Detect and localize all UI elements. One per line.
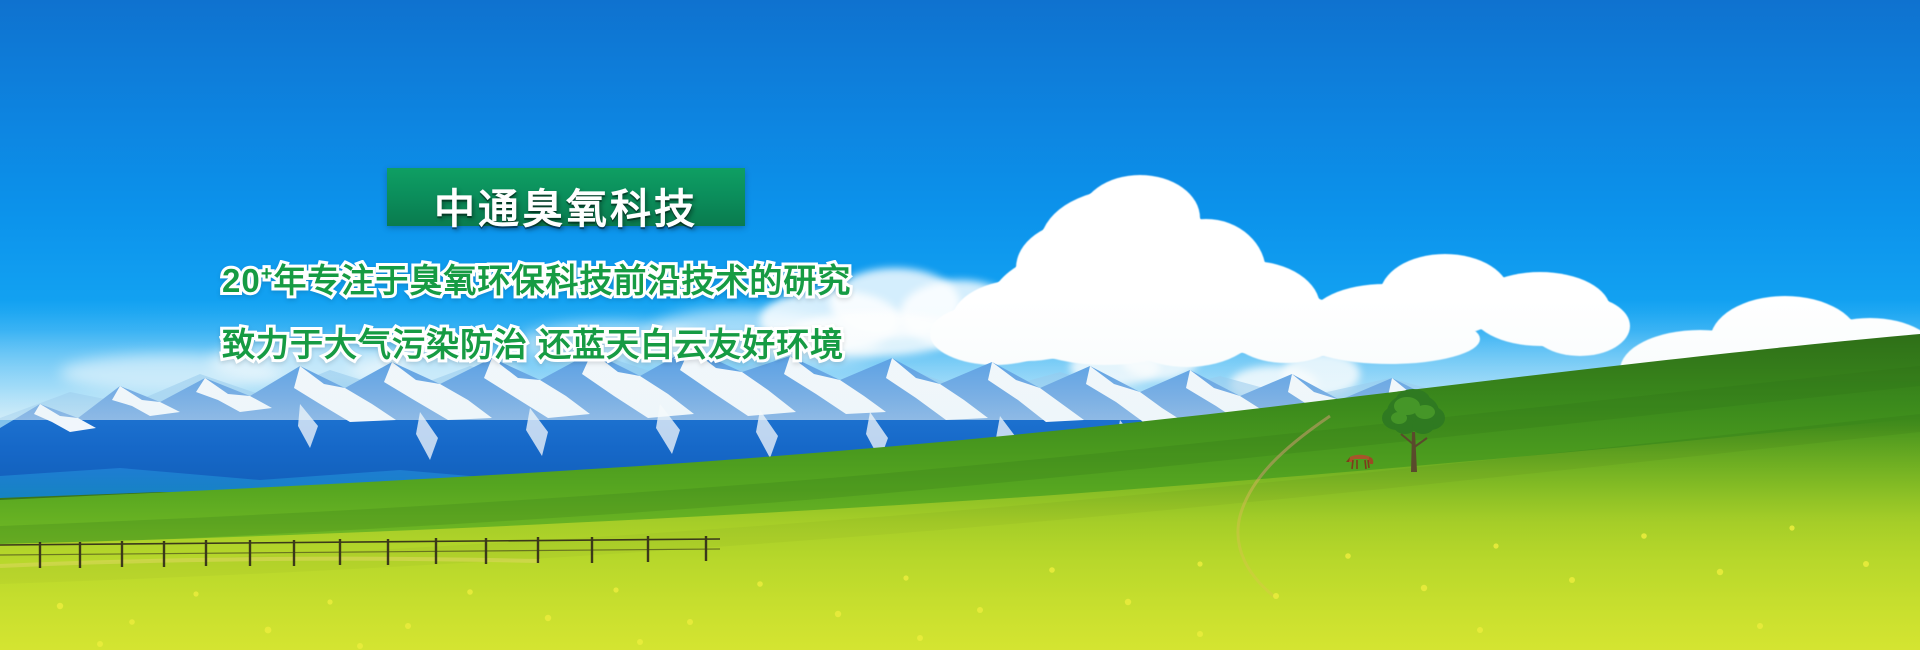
hero-banner: 中通臭氧科技 20+年专注于臭氧环保科技前沿技术的研究 致力于大气污染防治 还蓝…: [0, 0, 1920, 650]
tagline-line-1: 20+年专注于臭氧环保科技前沿技术的研究: [222, 264, 851, 297]
tagline-years-number: 20: [222, 262, 261, 299]
tagline-line-1-rest: 年专注于臭氧环保科技前沿技术的研究: [273, 262, 851, 299]
brand-title-plate: 中通臭氧科技: [387, 168, 745, 226]
brand-title: 中通臭氧科技: [387, 180, 745, 238]
tagline-plus-superscript: +: [261, 263, 274, 285]
tagline-line-2: 致力于大气污染防治 还蓝天白云友好环境: [222, 328, 844, 361]
banner-copy: 中通臭氧科技 20+年专注于臭氧环保科技前沿技术的研究 致力于大气污染防治 还蓝…: [0, 0, 1920, 650]
